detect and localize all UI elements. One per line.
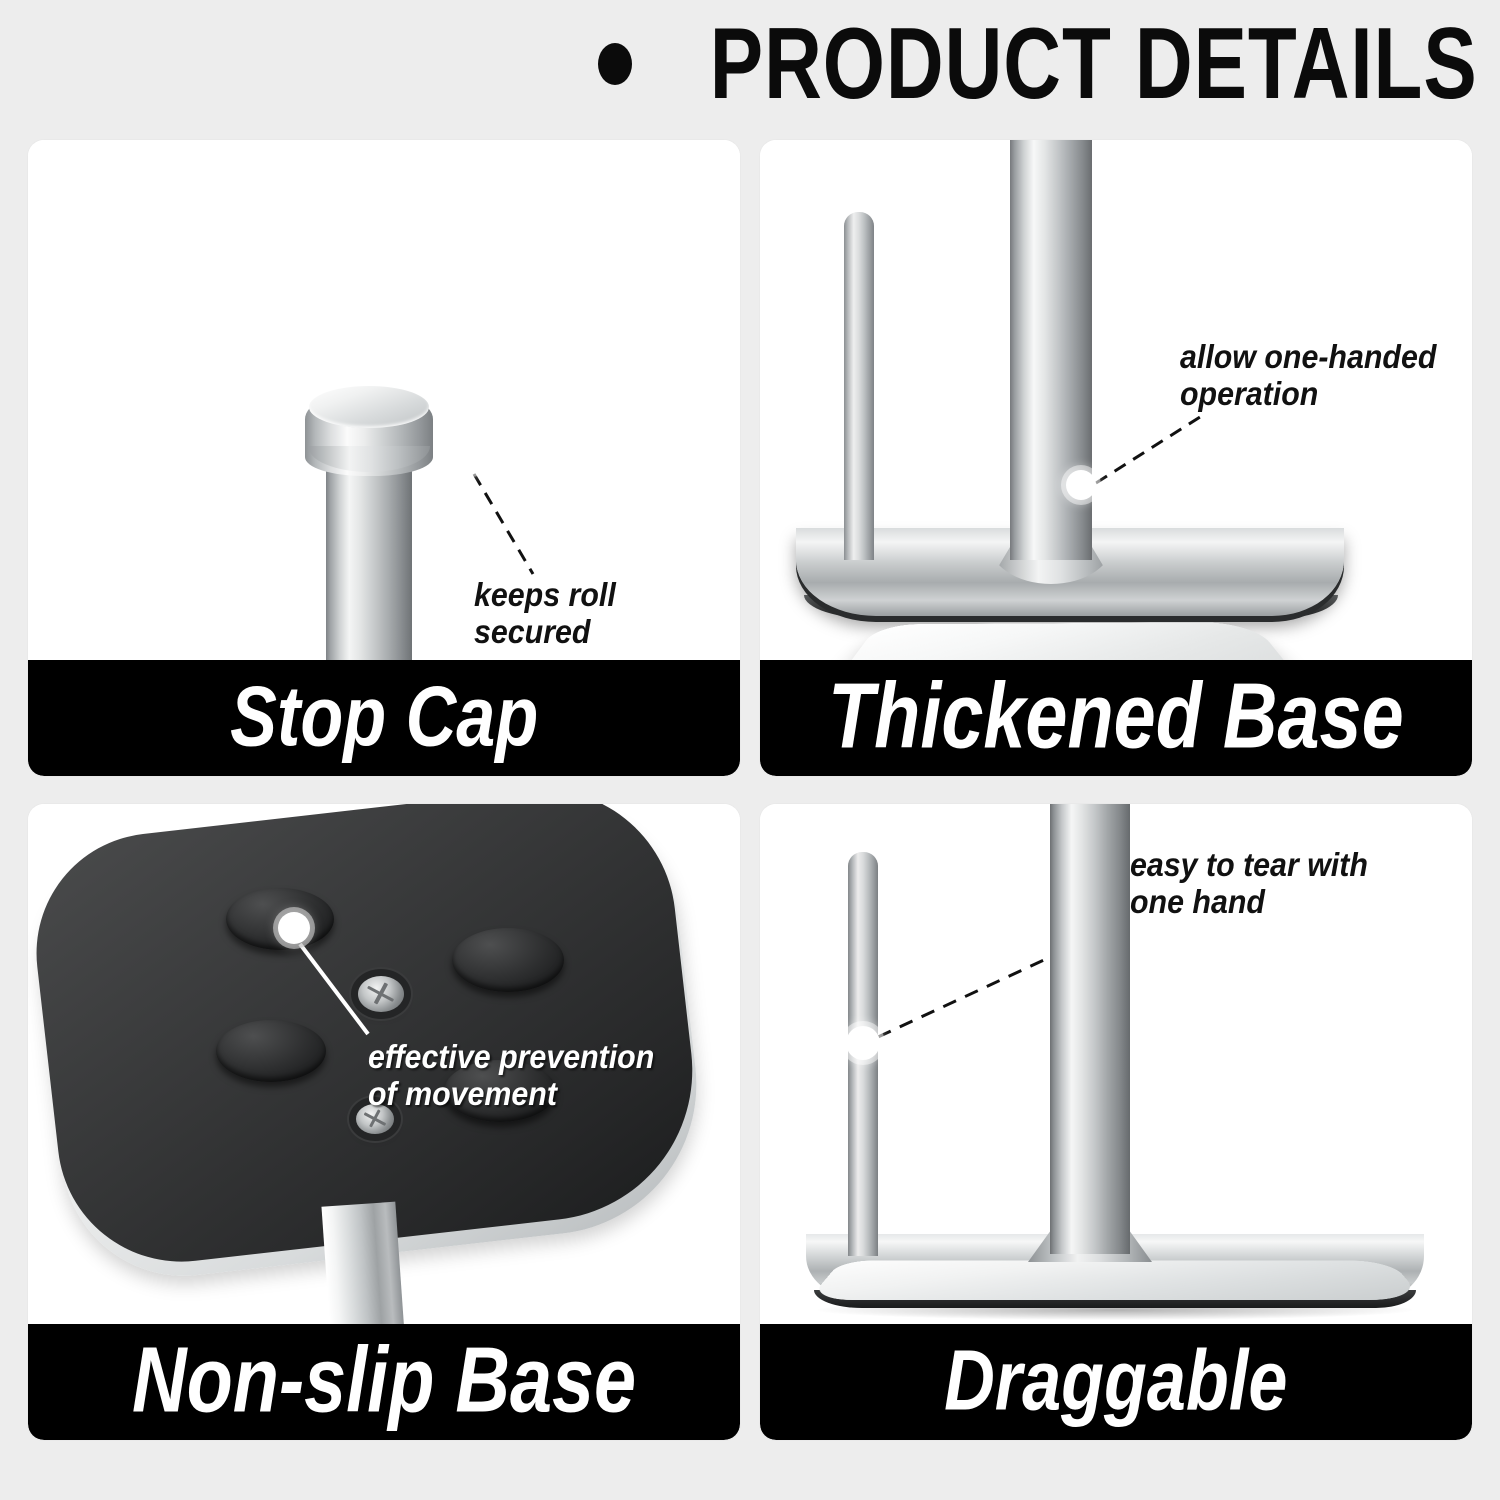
page-header: PRODUCT DETAILS <box>0 0 1500 128</box>
bullet-dot-icon <box>598 43 632 85</box>
panel-non-slip-base-image: effective prevention of movement <box>28 804 740 1324</box>
panel-thickened-base: allow one-handed operation Thickened Bas… <box>760 140 1472 776</box>
panel-stop-cap-image: keeps roll secured <box>28 140 740 660</box>
panel-non-slip-base: effective prevention of movement Non-sli… <box>28 804 740 1440</box>
annotation-effective-prevention-of-movement: effective prevention of movement <box>368 1038 654 1112</box>
callout-marker-dot <box>1066 470 1096 500</box>
caption-bar-thickened-base: Thickened Base <box>760 660 1472 776</box>
callout-leader-line <box>760 140 1472 660</box>
header-title-group: PRODUCT DETAILS <box>598 21 1478 107</box>
caption-label: Draggable <box>944 1337 1287 1427</box>
caption-label: Stop Cap <box>230 673 538 763</box>
callout-leader-line <box>28 140 740 660</box>
caption-bar-stop-cap: Stop Cap <box>28 660 740 776</box>
panel-draggable: easy to tear with one hand Draggable <box>760 804 1472 1440</box>
caption-bar-draggable: Draggable <box>760 1324 1472 1440</box>
caption-label: Non-slip Base <box>132 1337 636 1427</box>
page-title: PRODUCT DETAILS <box>710 13 1478 114</box>
base-underside-assembly: effective prevention of movement <box>28 804 740 1324</box>
callout-marker-dot <box>278 912 310 944</box>
panel-stop-cap: keeps roll secured Stop Cap <box>28 140 740 776</box>
callout-marker-dot <box>454 438 488 472</box>
panel-draggable-image: easy to tear with one hand <box>760 804 1472 1324</box>
caption-bar-non-slip-base: Non-slip Base <box>28 1324 740 1440</box>
callout-leader-line <box>760 804 1472 1324</box>
callout-marker-dot <box>846 1026 880 1060</box>
panel-thickened-base-image: allow one-handed operation <box>760 140 1472 660</box>
product-detail-grid: keeps roll secured Stop Cap allow one-ha… <box>28 140 1472 1478</box>
caption-label: Thickened Base <box>828 673 1404 763</box>
